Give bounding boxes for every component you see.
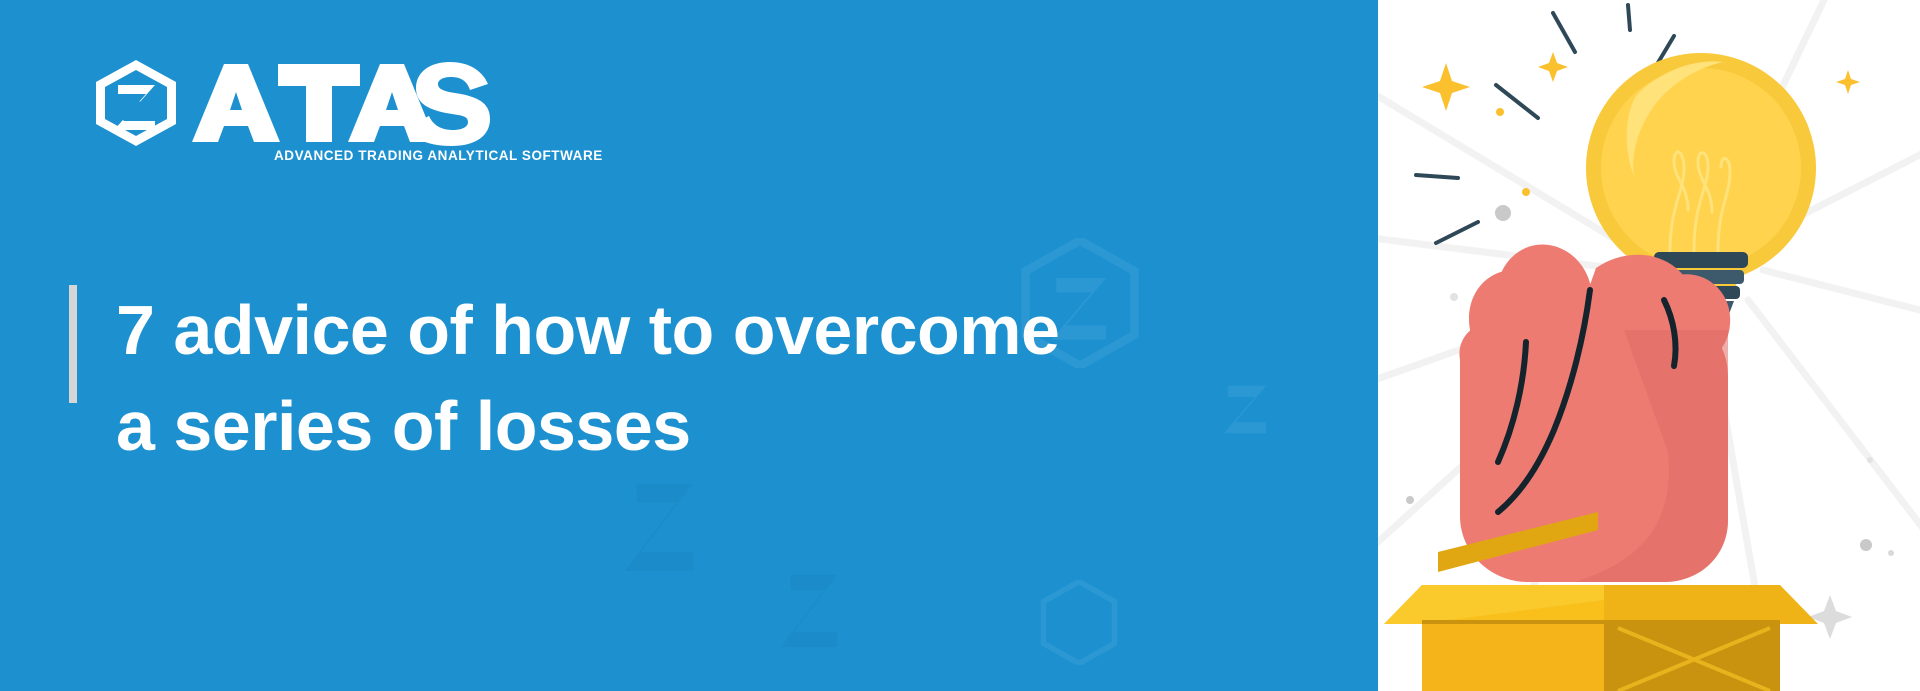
banner-root: ADVANCED TRADING ANALYTICAL SOFTWARE 7 a… bbox=[0, 0, 1920, 691]
headline-accent-bar bbox=[69, 285, 77, 403]
atas-wordmark bbox=[192, 62, 490, 146]
logo-mark-wrap bbox=[92, 58, 492, 146]
headline-line-1: 7 advice of how to overcome bbox=[116, 282, 1116, 378]
illustration-panel bbox=[1378, 0, 1920, 691]
hand-icon bbox=[1459, 244, 1730, 582]
atas-logo-icon bbox=[92, 58, 492, 146]
watermark-logo-icon bbox=[1200, 355, 1292, 455]
watermark-logo-icon bbox=[1040, 580, 1118, 665]
hexagon-z-icon bbox=[96, 60, 176, 146]
headline-line-2: a series of losses bbox=[116, 378, 1116, 474]
watermark-logo-icon bbox=[600, 460, 720, 590]
brand-tagline: ADVANCED TRADING ANALYTICAL SOFTWARE bbox=[274, 148, 603, 163]
watermark-logo-icon bbox=[760, 555, 860, 663]
hand-holding-lightbulb-illustration bbox=[1378, 0, 1920, 691]
brand-logo[interactable]: ADVANCED TRADING ANALYTICAL SOFTWARE bbox=[92, 58, 492, 168]
page-title: 7 advice of how to overcome a series of … bbox=[116, 282, 1116, 474]
blue-panel: ADVANCED TRADING ANALYTICAL SOFTWARE 7 a… bbox=[0, 0, 1378, 691]
